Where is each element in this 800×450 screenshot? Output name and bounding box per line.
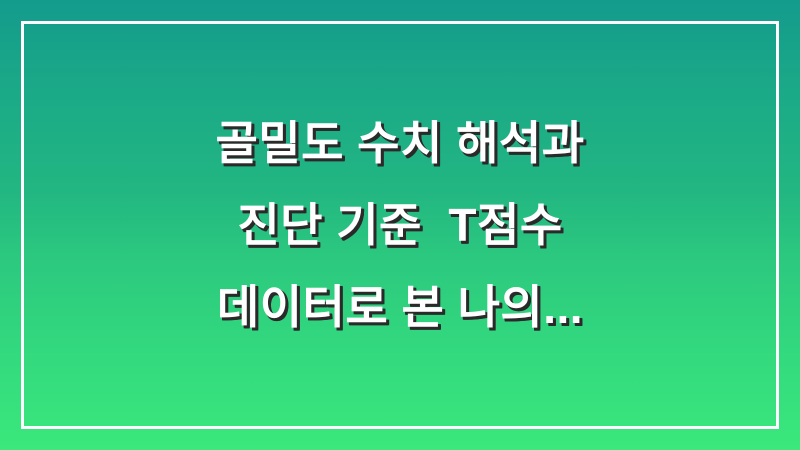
thumbnail-card: 골밀도 수치 해석과 진단 기준 T점수 데이터로 본 나의...	[0, 0, 800, 450]
title-line-2: 진단 기준 T점수	[237, 184, 562, 266]
title-line-1: 골밀도 수치 해석과	[215, 102, 584, 184]
title-line-3: 데이터로 본 나의...	[217, 266, 583, 348]
title-block: 골밀도 수치 해석과 진단 기준 T점수 데이터로 본 나의...	[0, 0, 800, 450]
